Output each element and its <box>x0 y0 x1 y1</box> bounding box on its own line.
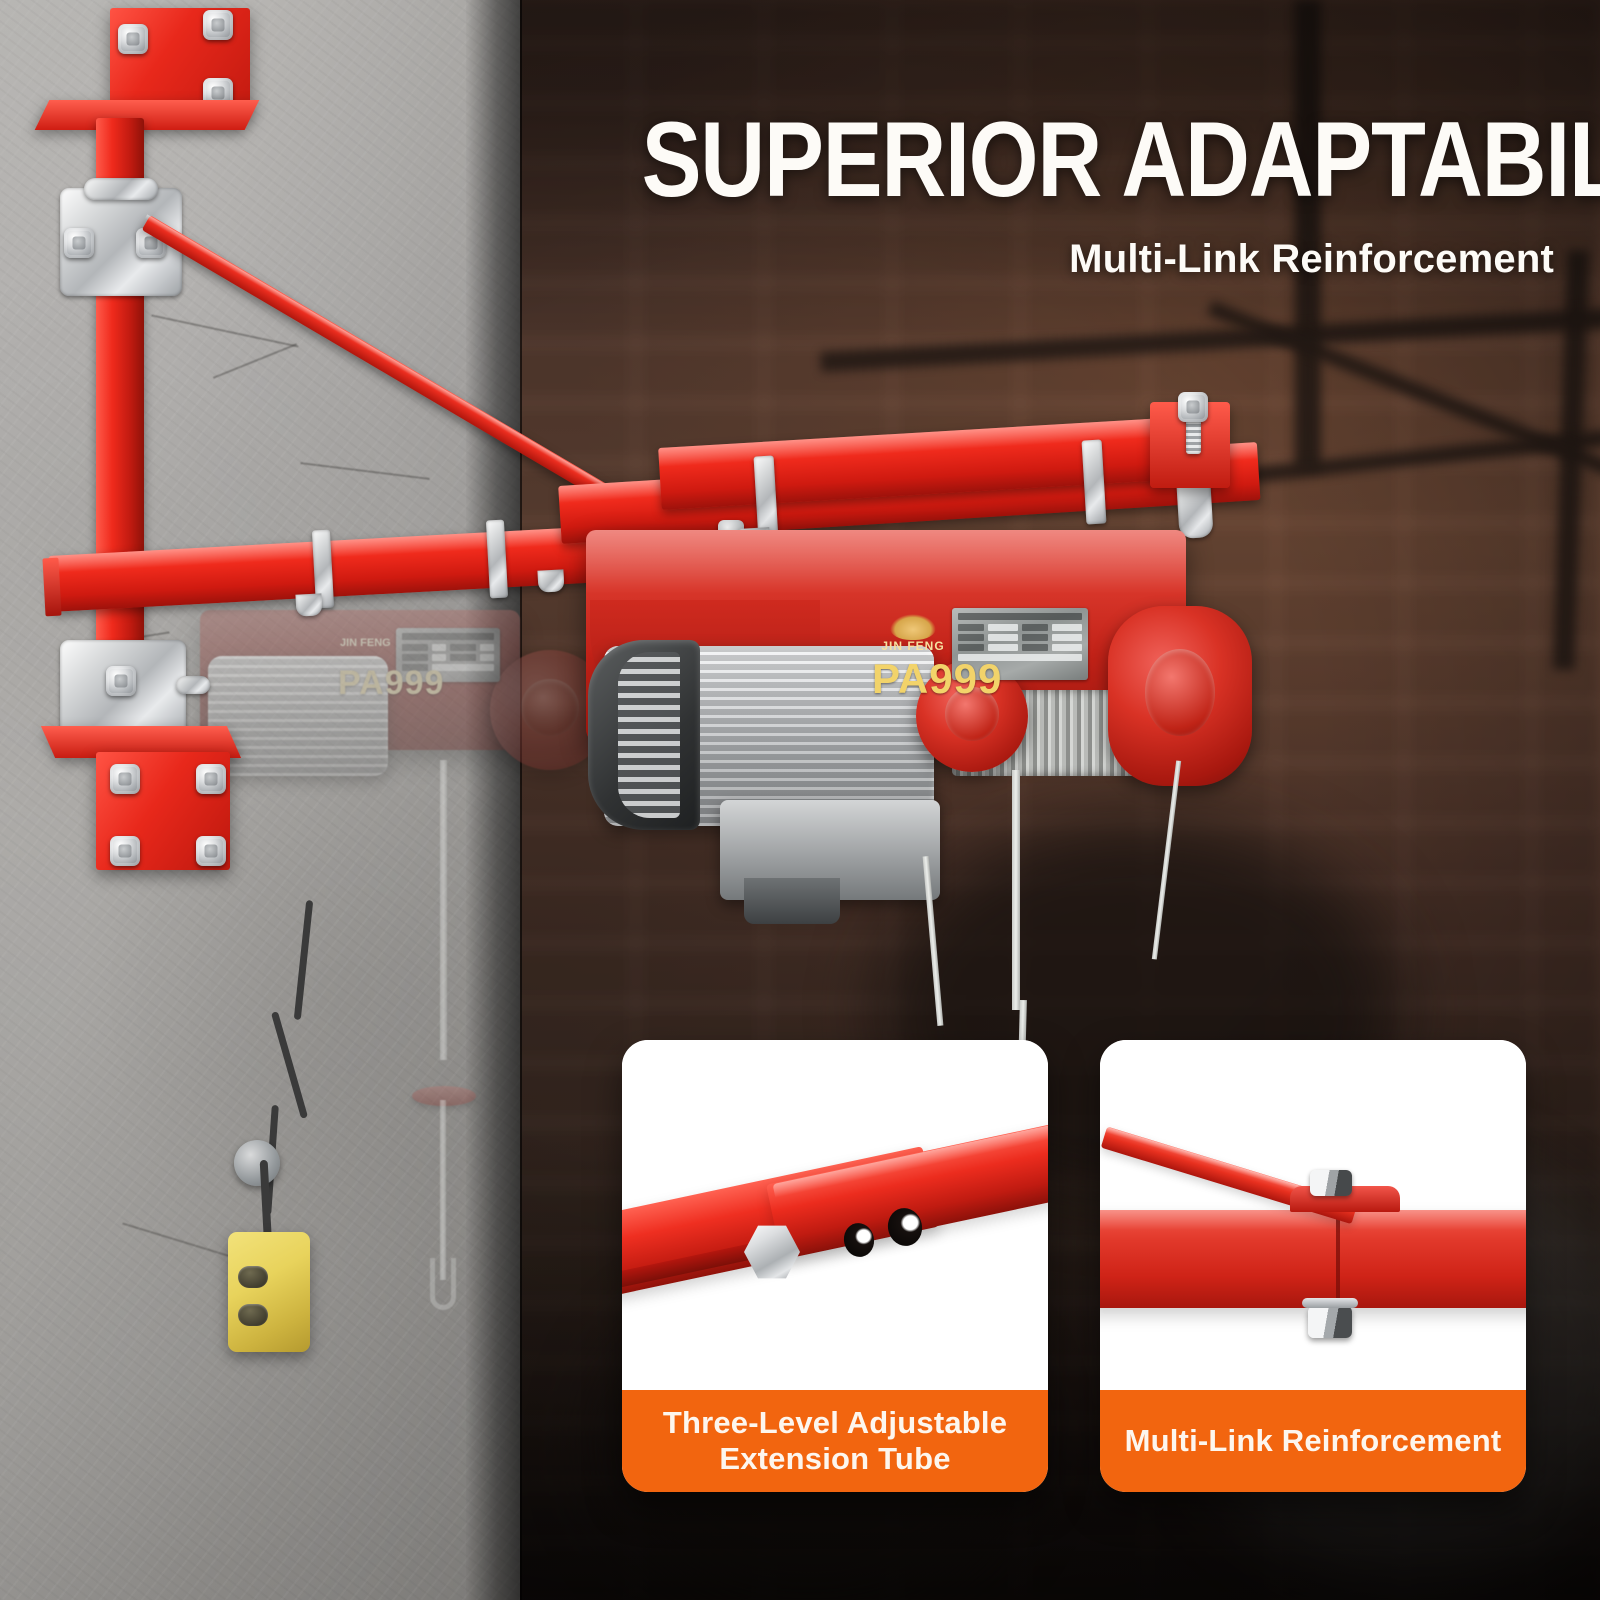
mount-bolt <box>203 10 233 40</box>
wire-rope-hanging <box>1012 770 1020 1010</box>
nameplate-row <box>958 644 1082 651</box>
nameplate-row <box>958 634 1082 641</box>
nameplate-title-bar <box>958 613 1082 620</box>
wall-crack <box>122 1223 237 1260</box>
brand-name-label: JIN FENG <box>878 640 948 652</box>
wall-crack <box>151 314 298 347</box>
hoist-shell-highlight <box>586 530 1186 594</box>
mount-bolt <box>196 764 226 794</box>
pendant-button-up[interactable] <box>238 1266 268 1288</box>
boom-end-cap <box>42 558 61 617</box>
ghost-nameplate-title <box>402 633 494 640</box>
power-plug <box>234 1140 280 1186</box>
inset-beam-top-face <box>1100 1210 1526 1230</box>
motor-fan-teeth <box>618 652 680 818</box>
mount-bolt <box>118 24 148 54</box>
hoist-lower-cap <box>744 878 840 924</box>
inset-joint-bolt-top <box>1310 1170 1352 1196</box>
inset-photo-multi-link <box>1100 1040 1526 1390</box>
ghost-wire-rope-lower <box>440 1100 446 1280</box>
product-marketing-image: PA999 JIN FENG <box>0 0 1600 1600</box>
ghost-hoist-overlay: PA999 JIN FENG <box>200 560 630 960</box>
ghost-nameplate-row <box>402 654 494 661</box>
model-number-label: PA999 <box>872 655 1002 703</box>
rail-clamp-hook <box>1176 481 1213 539</box>
rail-end-nut <box>1178 392 1208 422</box>
pendant-control[interactable] <box>228 1232 310 1352</box>
upper-clamp-collar <box>84 178 158 200</box>
mount-bolt <box>110 836 140 866</box>
ghost-nameplate-row <box>402 644 494 651</box>
mount-bolt <box>110 764 140 794</box>
pendant-button-down[interactable] <box>238 1304 268 1326</box>
inset-card-extension-tube[interactable]: Three-Level Adjustable Extension Tube <box>622 1040 1048 1492</box>
boom-clamp-hook <box>295 593 322 616</box>
lower-clamp-pin <box>176 676 210 694</box>
ghost-brand-label: JIN FENG <box>340 638 391 649</box>
upper-bracket-gusset <box>35 100 260 130</box>
ghost-model-label: PA999 <box>338 664 444 703</box>
boom-clamp-hook <box>537 569 564 592</box>
inset-beam-splice-line <box>1336 1210 1340 1308</box>
inset-bolt-washer <box>1302 1298 1358 1308</box>
clamp-bolt <box>106 666 136 696</box>
inset-card-multi-link[interactable]: Multi-Link Reinforcement <box>1100 1040 1526 1492</box>
inset-caption-extension-tube: Three-Level Adjustable Extension Tube <box>622 1390 1048 1492</box>
inset-caption-multi-link: Multi-Link Reinforcement <box>1100 1390 1526 1492</box>
wall-crack <box>213 343 297 379</box>
brand-logo-icon <box>890 614 936 640</box>
ghost-lifting-hook <box>430 1258 456 1310</box>
page-title: SUPERIOR ADAPTABILITY <box>642 108 1499 211</box>
inset-photo-extension-tube <box>622 1040 1048 1390</box>
mount-bolt <box>196 836 226 866</box>
cable-drum-flange-right <box>1108 606 1252 786</box>
ghost-wire-rope <box>440 760 447 1060</box>
nameplate-row <box>958 624 1082 631</box>
wall-crack <box>300 462 429 480</box>
inset-joint-bolt-bottom <box>1308 1306 1352 1338</box>
clamp-bolt <box>64 228 94 258</box>
page-subtitle: Multi-Link Reinforcement <box>560 237 1580 282</box>
